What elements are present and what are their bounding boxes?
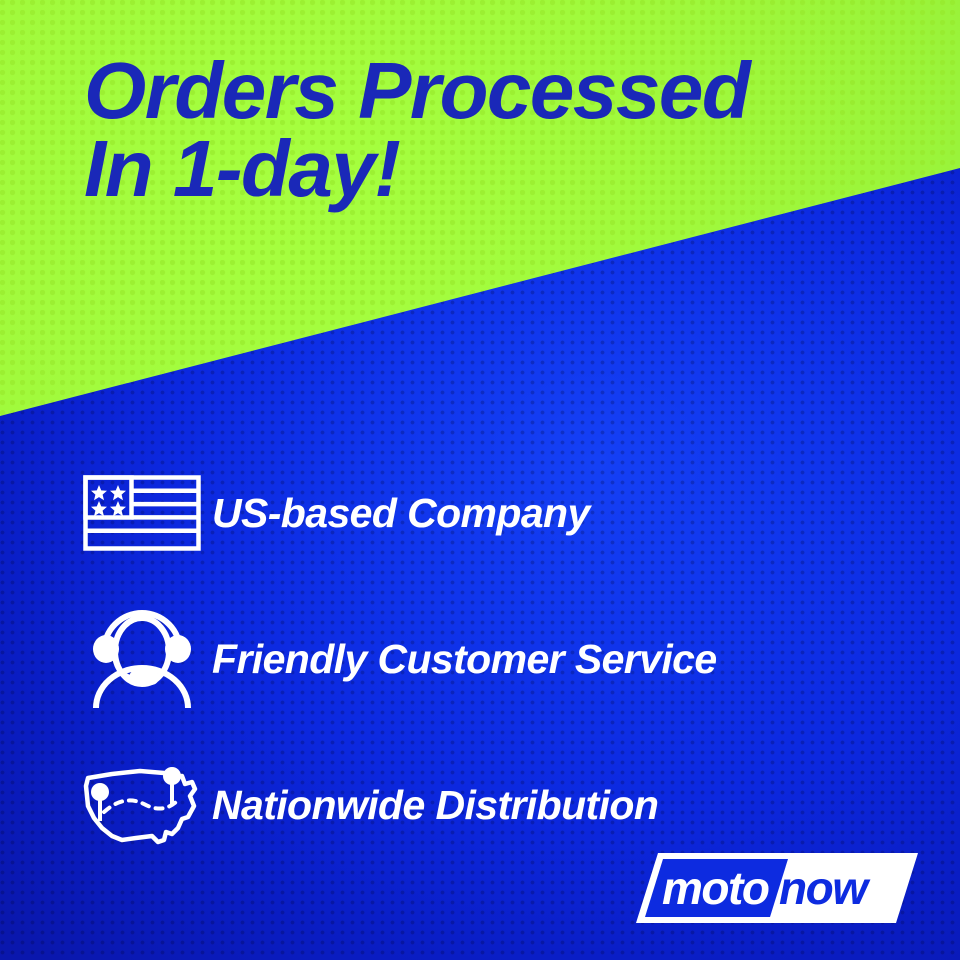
list-item: Friendly Customer Service <box>72 586 892 732</box>
feature-label: Friendly Customer Service <box>212 636 717 683</box>
usa-map-pins-icon <box>72 762 212 848</box>
logo-text-moto: moto <box>662 862 769 914</box>
feature-label: Nationwide Distribution <box>212 782 658 829</box>
feature-label: US-based Company <box>212 490 590 537</box>
page-title: Orders Processed In 1-day! <box>84 52 904 209</box>
headset-agent-icon <box>72 609 212 709</box>
logo-text-now: now <box>779 862 871 914</box>
motonow-logo[interactable]: moto now <box>636 853 918 923</box>
promo-poster: Orders Processed In 1-day! <box>0 0 960 960</box>
us-flag-icon <box>72 475 212 551</box>
feature-list: US-based Company <box>72 440 892 878</box>
list-item: US-based Company <box>72 440 892 586</box>
